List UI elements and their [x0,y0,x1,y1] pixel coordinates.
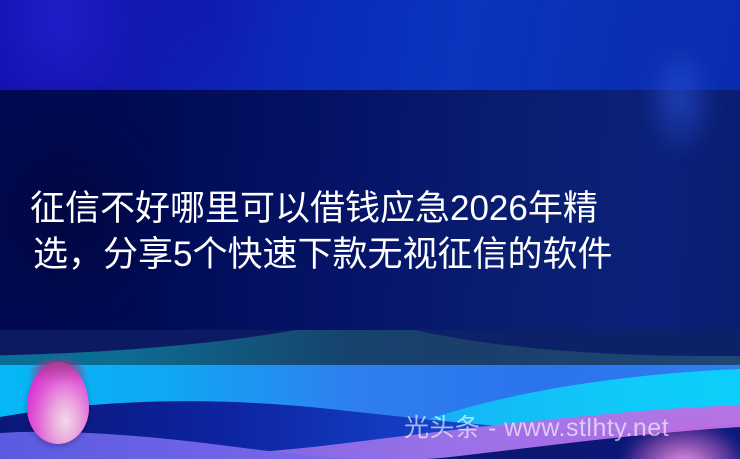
background-strip-teal [0,330,740,365]
background-waves [0,365,740,459]
background-band-top-sheen [0,0,740,90]
poster-canvas: 征信不好哪里可以借钱应急2026年精 选，分享5个快速下款无视征信的软件 光头条… [0,0,740,459]
pink-gradient-egg-icon [27,362,89,444]
waves-svg [0,365,740,459]
background-band-top [0,0,740,90]
title-line-2: 选，分享5个快速下款无视征信的软件 [33,232,710,278]
page-title: 征信不好哪里可以借钱应急2026年精 选，分享5个快速下款无视征信的软件 [30,186,710,278]
title-line-1: 征信不好哪里可以借钱应急2026年精 [30,186,710,232]
